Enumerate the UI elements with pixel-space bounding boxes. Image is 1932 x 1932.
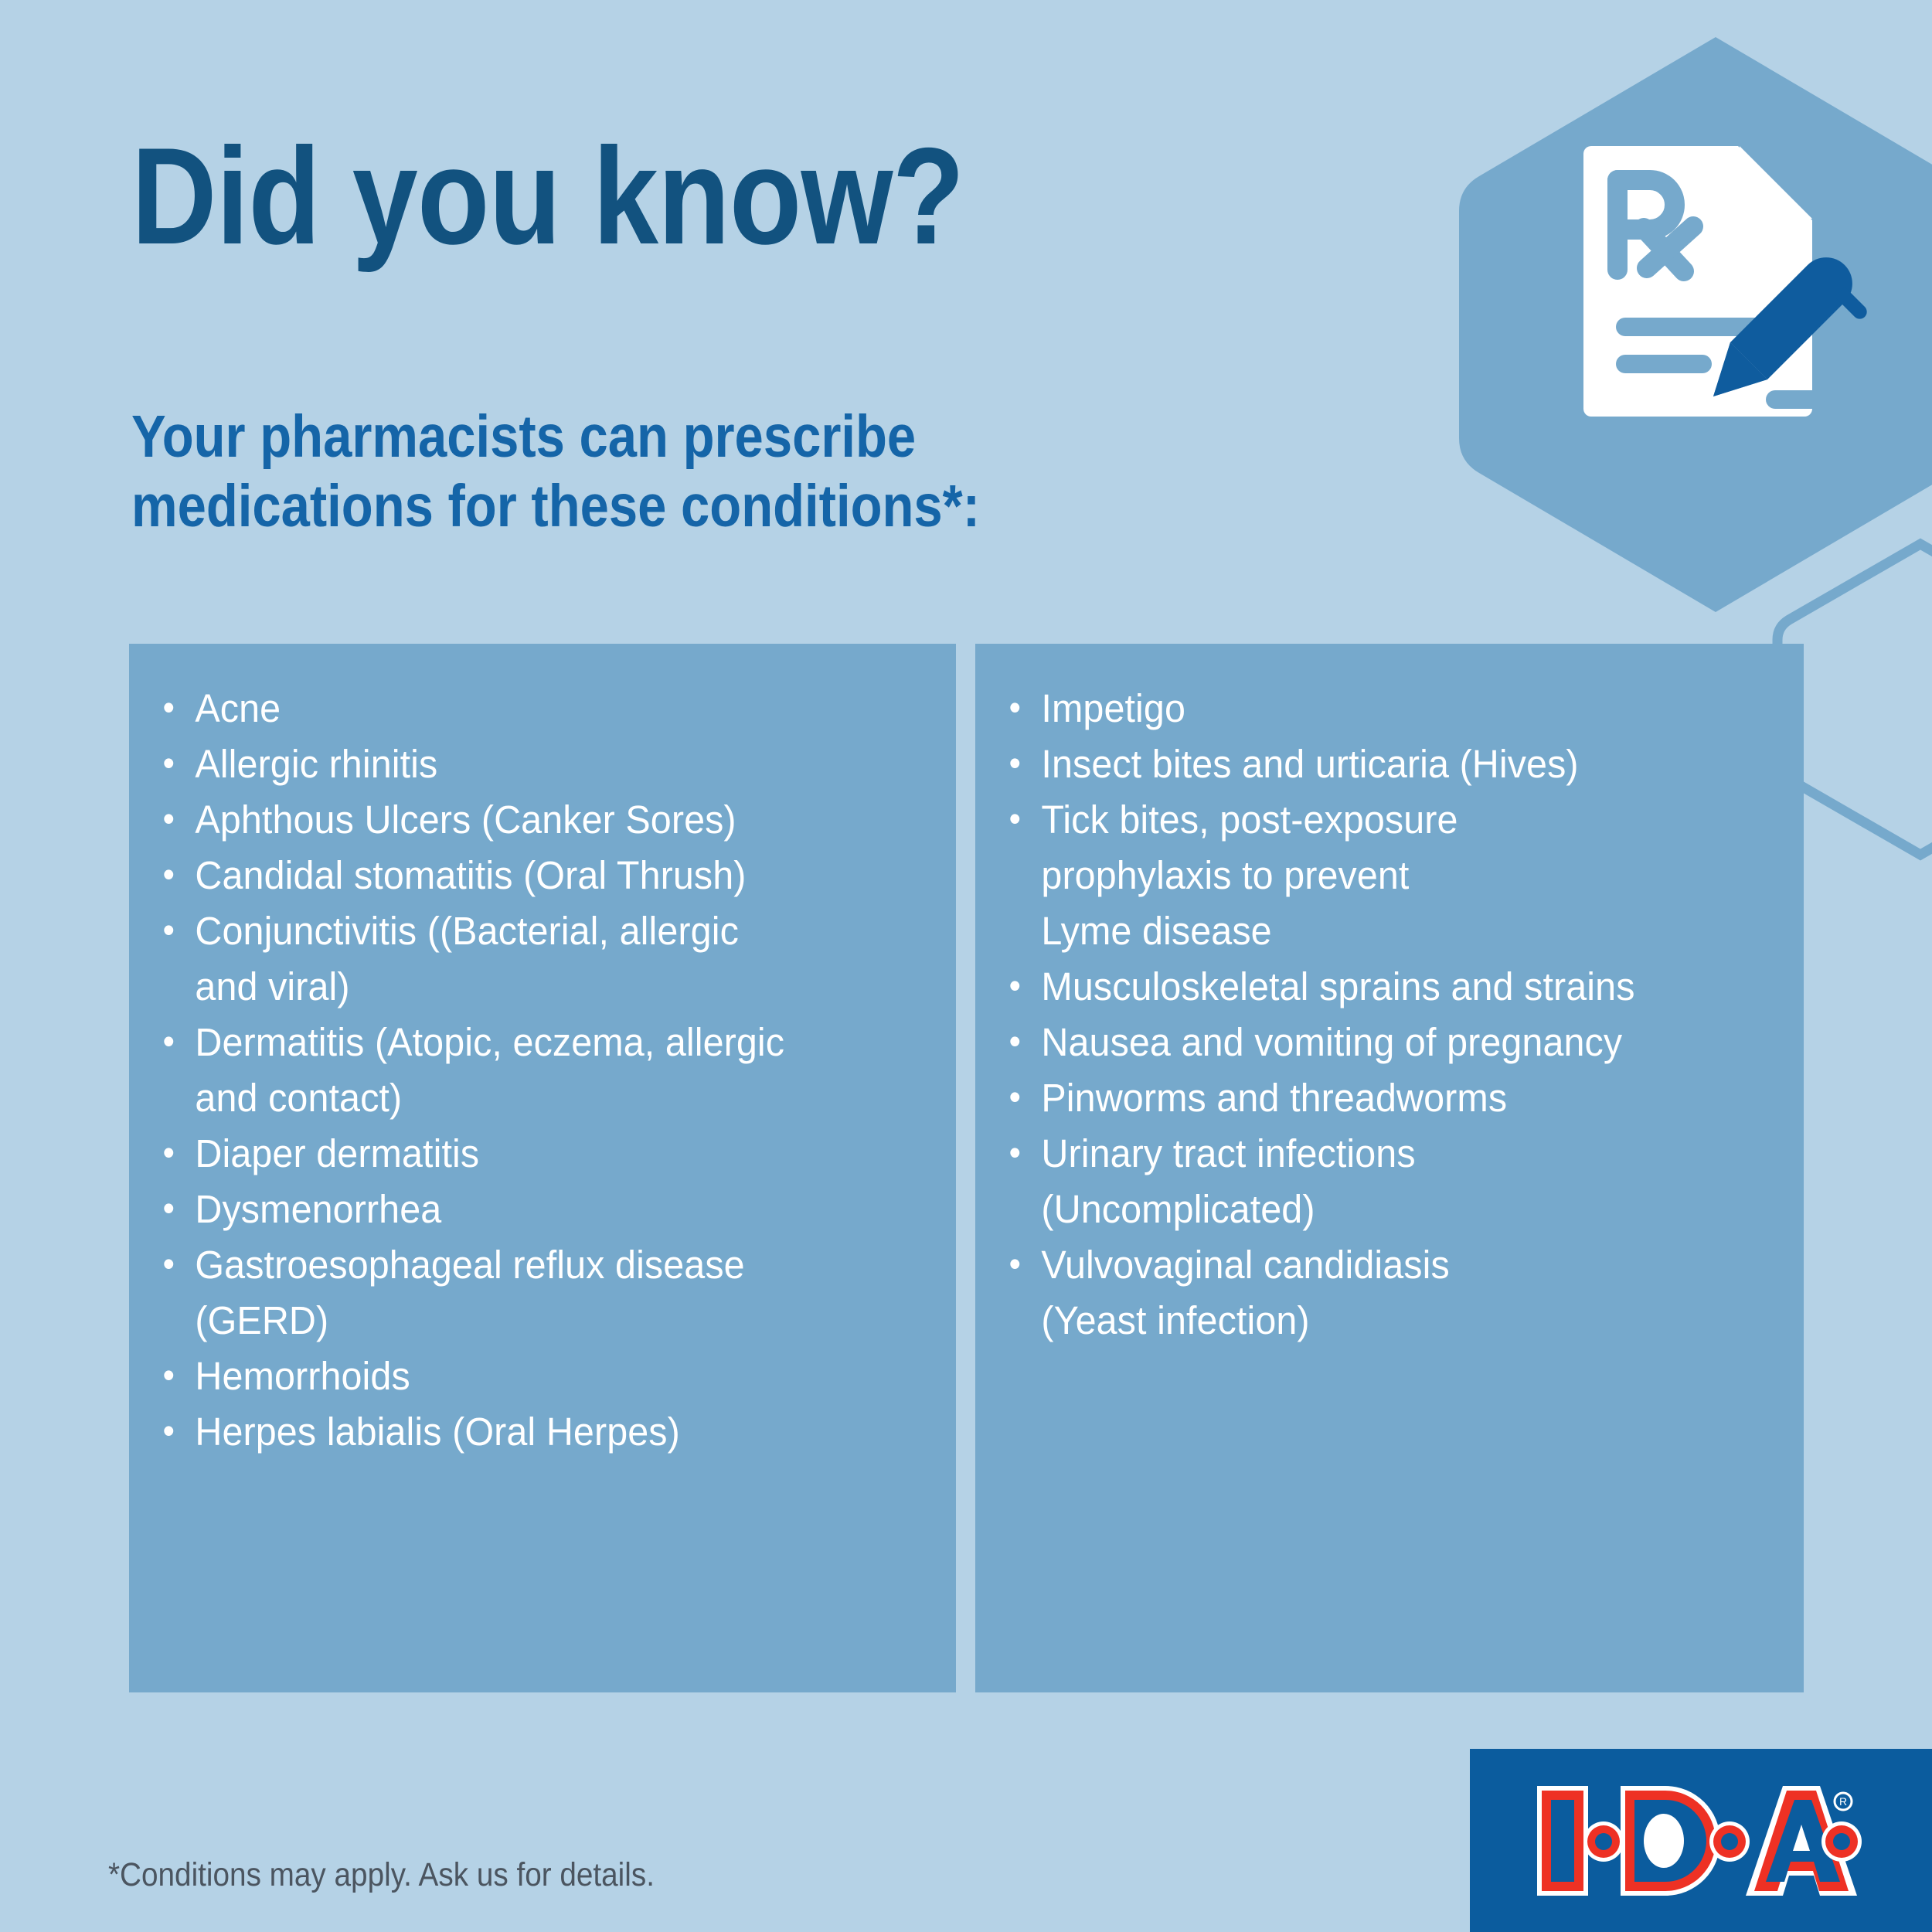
page-title: Did you know?	[131, 128, 964, 265]
list-item-label: Conjunctivitis ((Bacterial, allergic	[195, 909, 738, 953]
list-item: Hemorrhoids	[157, 1349, 889, 1404]
list-item-label: Diaper dermatitis	[195, 1131, 479, 1175]
list-item-label: Pinworms and threadworms	[1041, 1076, 1507, 1120]
list-item-label: Hemorrhoids	[195, 1354, 410, 1398]
list-item: Pinworms and threadworms	[1003, 1070, 1737, 1126]
list-item: Acne	[157, 681, 889, 736]
list-item: Insect bites and urticaria (Hives)	[1003, 736, 1737, 792]
list-item: Musculoskeletal sprains and strains	[1003, 959, 1737, 1015]
svg-text:R: R	[1839, 1795, 1847, 1808]
conditions-panel-left: Acne Allergic rhinitis Aphthous Ulcers (…	[129, 644, 956, 1692]
list-item-label: Urinary tract infections	[1041, 1131, 1415, 1175]
conditions-panel-right: Impetigo Insect bites and urticaria (Hiv…	[975, 644, 1804, 1692]
list-item-label: Dysmenorrhea	[195, 1187, 441, 1231]
list-item: Vulvovaginal candidiasis(Yeast infection…	[1003, 1237, 1737, 1349]
list-item: Allergic rhinitis	[157, 736, 889, 792]
infographic-poster: Did you know? Your pharmacists can presc…	[0, 0, 1932, 1932]
list-item-label: Impetigo	[1041, 686, 1185, 730]
list-item-label-cont: (GERD)	[195, 1293, 889, 1349]
list-item: Diaper dermatitis	[157, 1126, 889, 1182]
list-item-label-cont: prophylaxis to prevent	[1041, 848, 1737, 903]
list-item-label-cont2: Lyme disease	[1041, 903, 1737, 959]
list-item-label: Candidal stomatitis (Oral Thrush)	[195, 853, 746, 897]
list-item: Herpes labialis (Oral Herpes)	[157, 1404, 889, 1460]
list-item-label: Gastroesophageal reflux disease	[195, 1243, 744, 1287]
rx-prescription-document-with-pen-icon	[1573, 135, 1874, 437]
list-item: Urinary tract infections(Uncomplicated)	[1003, 1126, 1737, 1237]
list-item-label: Musculoskeletal sprains and strains	[1041, 964, 1634, 1009]
list-item: Candidal stomatitis (Oral Thrush)	[157, 848, 889, 903]
list-item: Gastroesophageal reflux disease(GERD)	[157, 1237, 889, 1349]
list-item-label-cont: and viral)	[195, 959, 889, 1015]
list-item-label: Aphthous Ulcers (Canker Sores)	[195, 798, 736, 842]
list-item-label-cont: and contact)	[195, 1070, 889, 1126]
page-subtitle: Your pharmacists can prescribe medicatio…	[131, 402, 980, 541]
list-item: Dysmenorrhea	[157, 1182, 889, 1237]
list-item-label: Vulvovaginal candidiasis	[1041, 1243, 1449, 1287]
page-subtitle-line1: Your pharmacists can prescribe	[131, 402, 980, 471]
list-item: Impetigo	[1003, 681, 1737, 736]
list-item-label: Acne	[195, 686, 281, 730]
list-item-label: Allergic rhinitis	[195, 742, 437, 786]
list-item-label: Nausea and vomiting of pregnancy	[1041, 1020, 1622, 1064]
list-item-label: Dermatitis (Atopic, eczema, allergic	[195, 1020, 784, 1064]
page-subtitle-line2: medications for these conditions*:	[131, 471, 980, 541]
list-item: Conjunctivitis ((Bacterial, allergicand …	[157, 903, 889, 1015]
list-item: Dermatitis (Atopic, eczema, allergicand …	[157, 1015, 889, 1126]
conditions-list-left: Acne Allergic rhinitis Aphthous Ulcers (…	[157, 681, 928, 1460]
list-item: Tick bites, post-exposureprophylaxis to …	[1003, 792, 1737, 959]
ida-logo-icon: R	[1534, 1783, 1866, 1899]
list-item-label-cont: (Yeast infection)	[1041, 1293, 1737, 1349]
list-item-label: Insect bites and urticaria (Hives)	[1041, 742, 1578, 786]
list-item-label: Herpes labialis (Oral Herpes)	[195, 1410, 679, 1454]
list-item-label: Tick bites, post-exposure	[1041, 798, 1458, 842]
footnote-disclaimer: *Conditions may apply. Ask us for detail…	[108, 1856, 655, 1894]
list-item: Aphthous Ulcers (Canker Sores)	[157, 792, 889, 848]
list-item-label-cont: (Uncomplicated)	[1041, 1182, 1737, 1237]
list-item: Nausea and vomiting of pregnancy	[1003, 1015, 1737, 1070]
conditions-list-right: Impetigo Insect bites and urticaria (Hiv…	[1003, 681, 1776, 1349]
